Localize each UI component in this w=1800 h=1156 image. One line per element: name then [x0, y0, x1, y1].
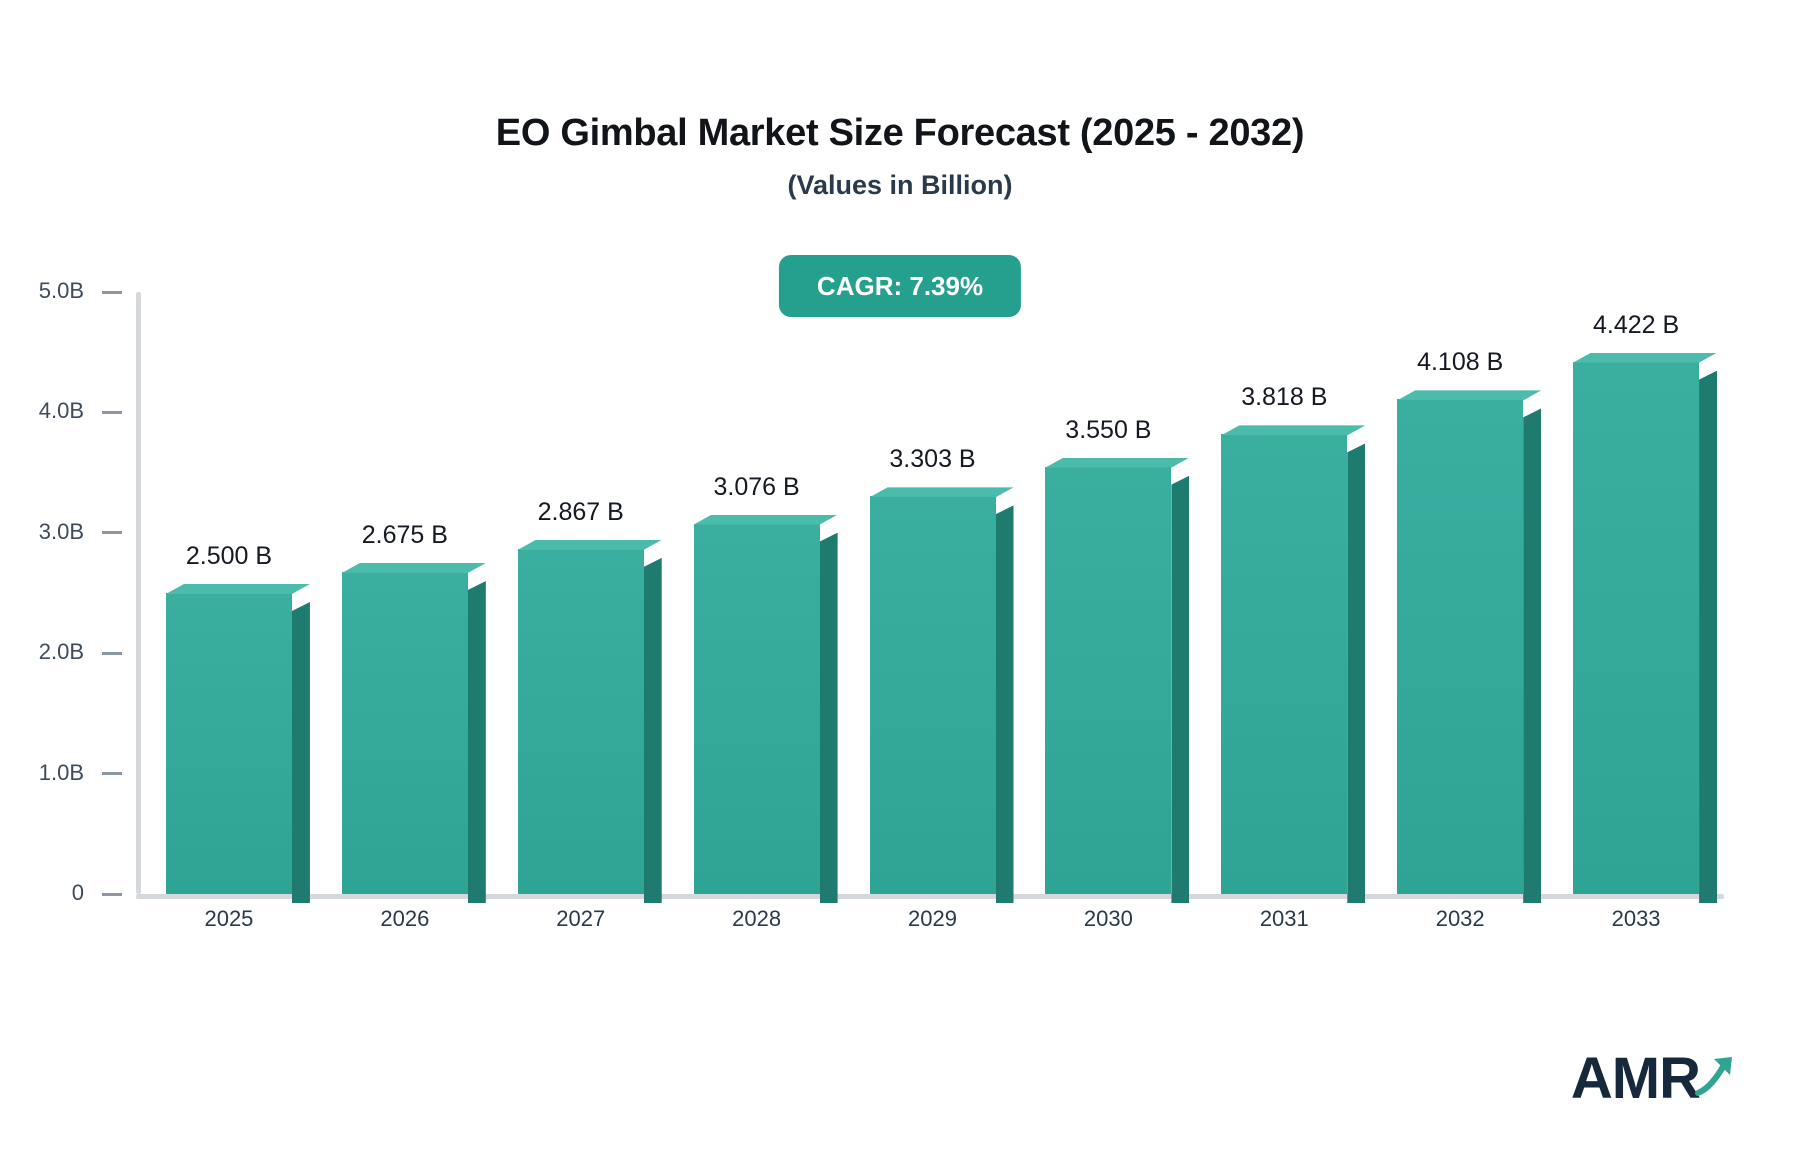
bar-column[interactable]: 4.108 B	[1397, 399, 1523, 894]
y-axis-tick-label: 2.0B	[39, 639, 84, 665]
bar-column[interactable]: 3.076 B	[694, 524, 820, 894]
bar-side-face	[1699, 371, 1717, 903]
bar-top-face	[870, 487, 1014, 497]
bar-top-face	[1397, 390, 1541, 400]
bar-slot: 3.550 B	[1020, 292, 1196, 894]
bar-series: 2.500 B2.675 B2.867 B3.076 B3.303 B3.550…	[141, 292, 1724, 894]
y-axis-tick-mark	[102, 291, 122, 294]
bar-top-face	[342, 563, 486, 573]
y-axis-tick-mark	[102, 772, 122, 775]
x-axis-labels: 202520262027202820292030203120322033	[141, 906, 1724, 932]
bar-slot: 2.867 B	[493, 292, 669, 894]
bar-value-label: 2.867 B	[538, 498, 624, 527]
bar-value-label: 4.422 B	[1593, 311, 1679, 340]
y-axis-tick-mark	[102, 531, 122, 534]
x-axis-label: 2032	[1372, 906, 1548, 932]
bar-slot: 3.076 B	[669, 292, 845, 894]
bar-slot: 2.500 B	[141, 292, 317, 894]
bar-front-face	[1573, 362, 1699, 894]
logo-text: AMR	[1571, 1050, 1700, 1108]
bar-front-face	[342, 572, 468, 894]
chart-page: EO Gimbal Market Size Forecast (2025 - 2…	[0, 0, 1800, 1156]
bar-front-face	[1397, 399, 1523, 894]
bar-front-face	[1221, 434, 1347, 894]
y-axis-tick-label: 0	[72, 880, 84, 906]
bar-slot: 3.303 B	[845, 292, 1021, 894]
bar-top-face	[1045, 458, 1189, 468]
x-axis-label: 2030	[1020, 906, 1196, 932]
bar-side-face	[1347, 443, 1365, 903]
bar-value-label: 4.108 B	[1417, 348, 1503, 377]
bar-column[interactable]: 3.303 B	[870, 496, 996, 894]
x-axis-label: 2028	[669, 906, 845, 932]
x-axis-label: 2029	[845, 906, 1021, 932]
bar-side-face	[1171, 476, 1189, 903]
y-axis-tick-label: 4.0B	[39, 398, 84, 424]
bar-front-face	[1045, 467, 1171, 894]
bar-value-label: 3.818 B	[1241, 383, 1327, 412]
bar-side-face	[1523, 408, 1541, 903]
bar-side-face	[292, 602, 310, 903]
amr-logo: AMR	[1571, 1050, 1740, 1108]
bar-column[interactable]: 3.818 B	[1221, 434, 1347, 894]
x-axis-line	[136, 894, 1724, 899]
bar-side-face	[468, 581, 486, 903]
bar-slot: 3.818 B	[1196, 292, 1372, 894]
bar-value-label: 3.303 B	[889, 445, 975, 474]
y-axis-tick-mark	[102, 411, 122, 414]
y-axis-tick-label: 3.0B	[39, 519, 84, 545]
y-axis-tick-label: 5.0B	[39, 278, 84, 304]
bar-slot: 4.422 B	[1548, 292, 1724, 894]
bar-value-label: 2.500 B	[186, 542, 272, 571]
bar-front-face	[870, 496, 996, 894]
bar-top-face	[694, 515, 838, 525]
bar-front-face	[166, 593, 292, 894]
bar-top-face	[518, 540, 662, 550]
bar-column[interactable]: 2.867 B	[518, 549, 644, 894]
trending-up-arrow-icon	[1694, 1053, 1740, 1102]
bar-column[interactable]: 4.422 B	[1573, 362, 1699, 894]
bar-slot: 2.675 B	[317, 292, 493, 894]
bar-top-face	[166, 584, 310, 594]
x-axis-label: 2033	[1548, 906, 1724, 932]
bar-side-face	[820, 533, 838, 903]
bar-column[interactable]: 2.675 B	[342, 572, 468, 894]
bar-value-label: 3.550 B	[1065, 416, 1151, 445]
bar-side-face	[644, 558, 662, 903]
bar-front-face	[694, 524, 820, 894]
bar-slot: 4.108 B	[1372, 292, 1548, 894]
bar-value-label: 3.076 B	[714, 473, 800, 502]
bar-column[interactable]: 2.500 B	[166, 593, 292, 894]
y-axis-tick-mark	[102, 893, 122, 896]
y-axis-tick-mark	[102, 652, 122, 655]
bar-value-label: 2.675 B	[362, 521, 448, 550]
y-axis-tick-label: 1.0B	[39, 760, 84, 786]
bar-side-face	[996, 505, 1014, 903]
x-axis-label: 2026	[317, 906, 493, 932]
plot-area: 01.0B2.0B3.0B4.0B5.0B 2.500 B2.675 B2.86…	[136, 292, 1724, 894]
page-subtitle: (Values in Billion)	[0, 170, 1800, 201]
x-axis-label: 2031	[1196, 906, 1372, 932]
bar-front-face	[518, 549, 644, 894]
bar-column[interactable]: 3.550 B	[1045, 467, 1171, 894]
bar-top-face	[1573, 353, 1717, 363]
bar-top-face	[1221, 425, 1365, 435]
page-title: EO Gimbal Market Size Forecast (2025 - 2…	[0, 112, 1800, 155]
x-axis-label: 2027	[493, 906, 669, 932]
x-axis-label: 2025	[141, 906, 317, 932]
